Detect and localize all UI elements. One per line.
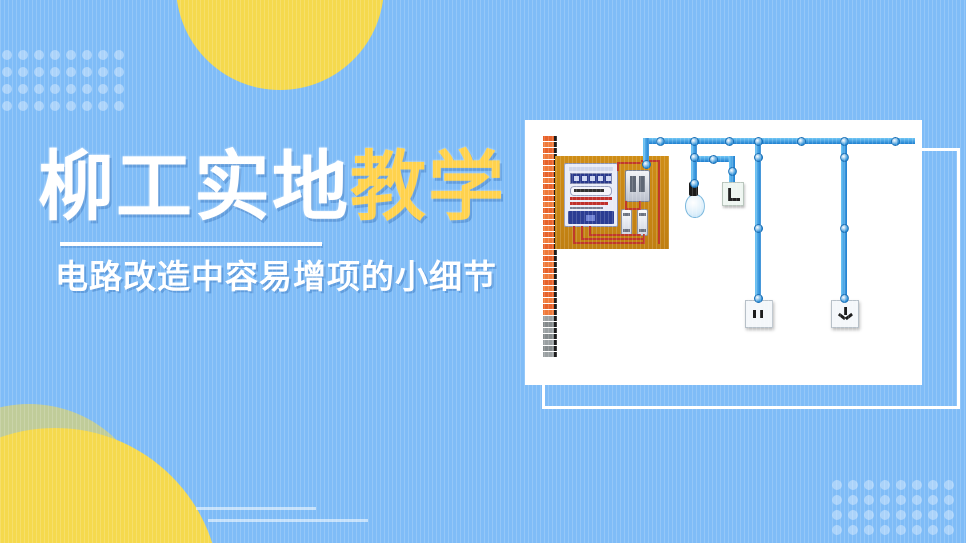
junction-node (840, 153, 849, 162)
junction-node (797, 137, 806, 146)
socket1-drop-conduit (755, 142, 761, 300)
junction-node (840, 137, 849, 146)
fuse-left (621, 209, 632, 236)
title-plain-text: 柳工实地 (38, 145, 350, 230)
junction-node (690, 153, 699, 162)
lamp-drop-conduit (691, 142, 697, 184)
junction-node (728, 167, 737, 176)
junction-node (754, 137, 763, 146)
main-horizontal-conduit (643, 138, 915, 144)
two-pin-socket (745, 300, 773, 328)
dot-grid-bottom-right (832, 480, 960, 540)
junction-node (709, 155, 718, 164)
junction-node (754, 224, 763, 233)
distribution-board (555, 156, 669, 249)
junction-node (891, 137, 900, 146)
accent-line-1 (196, 507, 316, 510)
yellow-circle-solid (0, 428, 220, 543)
electricity-meter (564, 163, 618, 227)
poster-canvas: 柳工实地教学 电路改造中容易增项的小细节 (0, 0, 966, 543)
junction-node (840, 224, 849, 233)
junction-node (840, 294, 849, 303)
socket2-drop-conduit (841, 142, 847, 300)
circuit-breaker (625, 170, 650, 202)
dot-grid-top-left (2, 50, 130, 118)
junction-node (690, 137, 699, 146)
page-subtitle: 电路改造中容易增项的小细节 (0, 258, 520, 296)
junction-node (642, 160, 651, 169)
wiring-diagram-image (525, 120, 922, 385)
three-pin-socket (831, 300, 859, 328)
junction-node (754, 153, 763, 162)
title-accent-text: 教学 (350, 145, 506, 230)
light-bulb-icon (685, 194, 705, 218)
page-title: 柳工实地教学 (0, 150, 520, 226)
junction-node (656, 137, 665, 146)
wall-switch (722, 182, 744, 206)
junction-node (690, 179, 699, 188)
household-wiring-schematic (525, 120, 922, 385)
junction-node (725, 137, 734, 146)
fuse-right (637, 209, 648, 236)
title-block: 柳工实地教学 电路改造中容易增项的小细节 (0, 150, 520, 296)
title-divider (60, 242, 322, 246)
accent-line-2 (208, 519, 368, 522)
junction-node (754, 294, 763, 303)
yellow-circle-top (176, 0, 384, 90)
